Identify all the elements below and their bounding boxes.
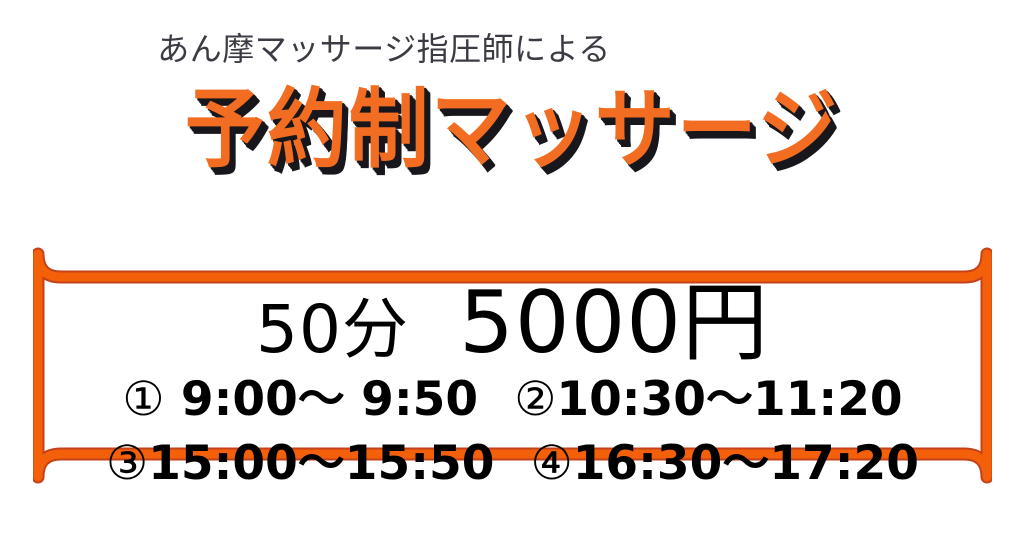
poster-title-container: 予約制マッサージ xyxy=(0,78,1024,174)
time-slot-2: ②10:30〜11:20 xyxy=(514,368,902,432)
time-slot-1: ① 9:00〜 9:50 xyxy=(122,368,478,432)
slot-number-3: ③ xyxy=(106,436,148,491)
time-slot-row: ③15:00〜15:50 ④16:30〜17:20 xyxy=(33,432,992,496)
price-value: 5000円 xyxy=(459,273,769,373)
duration-value: 50分 xyxy=(256,291,409,368)
time-slot-row: ① 9:00〜 9:50 ②10:30〜11:20 xyxy=(33,368,992,432)
time-slot-list: ① 9:00〜 9:50 ②10:30〜11:20 ③15:00〜15:50 ④… xyxy=(33,368,992,496)
time-slot-4: ④16:30〜17:20 xyxy=(531,432,919,496)
slot-time-2: 10:30〜11:20 xyxy=(556,372,902,427)
slot-time-1: 9:00〜 9:50 xyxy=(165,372,479,427)
slot-number-1: ① xyxy=(122,372,164,427)
slot-number-4: ④ xyxy=(531,436,573,491)
slot-time-4: 16:30〜17:20 xyxy=(573,436,919,491)
massage-reservation-poster: あん摩マッサージ指圧師による 予約制マッサージ 50分 5000円 ① 9:00… xyxy=(0,0,1024,550)
slot-time-3: 15:00〜15:50 xyxy=(148,436,494,491)
time-slot-3: ③15:00〜15:50 xyxy=(106,432,494,496)
poster-subtitle: あん摩マッサージ指圧師による xyxy=(0,24,768,70)
page-title: 予約制マッサージ xyxy=(185,78,839,182)
price-row: 50分 5000円 xyxy=(33,252,992,377)
slot-number-2: ② xyxy=(514,372,556,427)
